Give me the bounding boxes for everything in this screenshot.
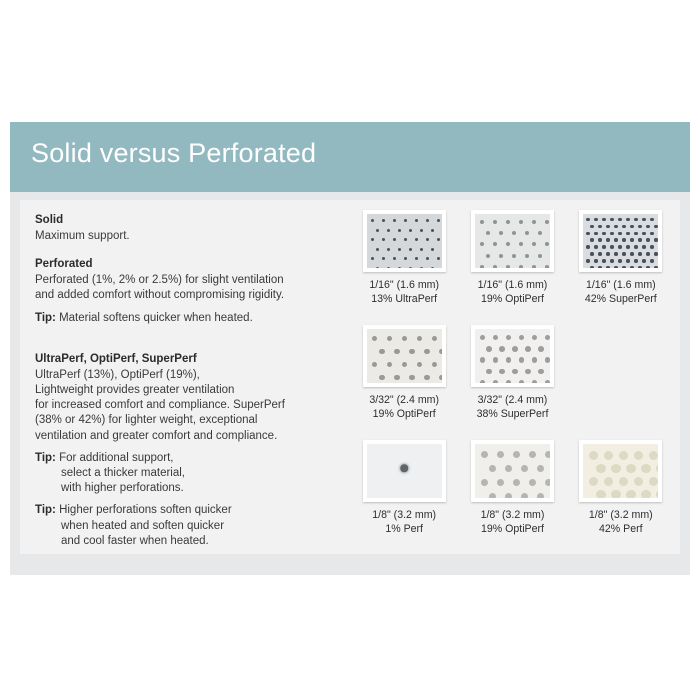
spacer (35, 304, 335, 311)
sample-size-label: 1/8" (3.2 mm) (589, 508, 653, 522)
text-section: UltraPerf, OptiPerf, SuperPerfUltraPerf … (35, 351, 335, 549)
perforation-sample-cell[interactable]: 1/16" (1.6 mm)42% SuperPerf (567, 210, 675, 325)
tip-line: Tip: Higher perforations soften quicker (35, 503, 335, 518)
perforation-hole (400, 465, 408, 473)
sample-photo (475, 329, 550, 383)
text-section: SolidMaximum support. (35, 212, 335, 244)
text-section: PerforatedPerforated (1%, 2% or 2.5%) fo… (35, 256, 335, 339)
tip-label: Tip: (35, 312, 56, 324)
spacer (35, 326, 335, 339)
sample-caption: 1/8" (3.2 mm)1% Perf (372, 508, 436, 536)
sample-caption: 1/16" (1.6 mm)19% OptiPerf (478, 278, 548, 306)
sample-perf-label: 1% Perf (372, 522, 436, 536)
sample-photo (367, 214, 442, 268)
sample-size-label: 1/16" (1.6 mm) (369, 278, 439, 292)
card-body-panel: SolidMaximum support.PerforatedPerforate… (20, 200, 680, 554)
card-header-band: Solid versus Perforated (10, 122, 690, 192)
sample-photo-frame (579, 210, 662, 272)
sample-photo-frame (471, 325, 554, 387)
section-body-line: ventilation and greater comfort and comp… (35, 429, 335, 444)
tip-label: Tip: (35, 504, 56, 516)
section-body-line: for increased comfort and compliance. Su… (35, 398, 335, 413)
perforation-sample-grid: 1/16" (1.6 mm)13% UltraPerf1/16" (1.6 mm… (350, 210, 675, 555)
sample-photo-frame (363, 440, 446, 502)
sample-perf-label: 19% OptiPerf (481, 522, 545, 536)
description-text-column: SolidMaximum support.PerforatedPerforate… (35, 212, 335, 561)
sample-caption: 1/16" (1.6 mm)42% SuperPerf (585, 278, 657, 306)
sample-photo (583, 444, 658, 498)
perforation-sample-cell[interactable]: 3/32" (2.4 mm)38% SuperPerf (458, 325, 566, 440)
sample-photo (475, 444, 550, 498)
sample-perf-label: 42% SuperPerf (585, 292, 657, 306)
sample-row: 1/16" (1.6 mm)13% UltraPerf1/16" (1.6 mm… (350, 210, 675, 325)
sample-perf-label: 38% SuperPerf (477, 407, 549, 421)
section-body-line: UltraPerf (13%), OptiPerf (19%), (35, 368, 335, 383)
tip-line: when heated and soften quicker (35, 519, 335, 534)
sample-size-label: 1/8" (3.2 mm) (481, 508, 545, 522)
sample-row: 1/8" (3.2 mm)1% Perf1/8" (3.2 mm)19% Opt… (350, 440, 675, 555)
sample-caption: 3/32" (2.4 mm)19% OptiPerf (369, 393, 439, 421)
sample-photo (367, 444, 442, 498)
sample-caption: 1/16" (1.6 mm)13% UltraPerf (369, 278, 439, 306)
perforation-sample-cell[interactable]: 1/8" (3.2 mm)1% Perf (350, 440, 458, 555)
section-body-line: Lightweight provides greater ventilation (35, 383, 335, 398)
tip-line: select a thicker material, (35, 466, 335, 481)
perforation-sample-cell[interactable]: 1/16" (1.6 mm)13% UltraPerf (350, 210, 458, 325)
tip-text: Higher perforations soften quicker (56, 504, 232, 516)
section-heading: Perforated (35, 256, 335, 272)
tip-text: Material softens quicker when heated. (56, 312, 253, 324)
sample-perf-label: 42% Perf (589, 522, 653, 536)
sample-size-label: 1/8" (3.2 mm) (372, 508, 436, 522)
section-heading: Solid (35, 212, 335, 228)
spacer (35, 444, 335, 451)
solid-versus-perforated-card: Solid versus Perforated SolidMaximum sup… (10, 122, 690, 575)
sample-perf-label: 13% UltraPerf (369, 292, 439, 306)
section-body-line: (38% or 42%) for lighter weight, excepti… (35, 413, 335, 428)
section-body-line: Maximum support. (35, 229, 335, 244)
page-title: Solid versus Perforated (31, 138, 316, 169)
perforation-sample-cell[interactable]: 1/16" (1.6 mm)19% OptiPerf (458, 210, 566, 325)
sample-caption: 1/8" (3.2 mm)19% OptiPerf (481, 508, 545, 536)
perforation-sample-cell[interactable]: 1/8" (3.2 mm)42% Perf (567, 440, 675, 555)
perforation-sample-cell[interactable]: 3/32" (2.4 mm)19% OptiPerf (350, 325, 458, 440)
section-body-line: Perforated (1%, 2% or 2.5%) for slight v… (35, 273, 335, 288)
sample-photo-frame (363, 325, 446, 387)
sample-size-label: 3/32" (2.4 mm) (369, 393, 439, 407)
sample-photo (583, 214, 658, 268)
sample-photo-frame (363, 210, 446, 272)
sample-row: 3/32" (2.4 mm)19% OptiPerf3/32" (2.4 mm)… (350, 325, 675, 440)
sample-perf-label: 19% OptiPerf (369, 407, 439, 421)
sample-size-label: 1/16" (1.6 mm) (585, 278, 657, 292)
tip-line: Tip: Material softens quicker when heate… (35, 311, 335, 326)
sample-photo (475, 214, 550, 268)
tip-text: For additional support, (56, 452, 174, 464)
spacer (35, 496, 335, 503)
sample-photo-frame (471, 440, 554, 502)
sample-photo-frame (471, 210, 554, 272)
section-heading: UltraPerf, OptiPerf, SuperPerf (35, 351, 335, 367)
tip-line: and cool faster when heated. (35, 534, 335, 549)
section-body-line: and added comfort without compromising r… (35, 288, 335, 303)
perforation-sample-cell[interactable]: 1/8" (3.2 mm)19% OptiPerf (458, 440, 566, 555)
tip-line: Tip: For additional support, (35, 451, 335, 466)
sample-perf-label: 19% OptiPerf (478, 292, 548, 306)
tip-label: Tip: (35, 452, 56, 464)
sample-size-label: 1/16" (1.6 mm) (478, 278, 548, 292)
sample-size-label: 3/32" (2.4 mm) (477, 393, 549, 407)
sample-photo (367, 329, 442, 383)
sample-caption: 1/8" (3.2 mm)42% Perf (589, 508, 653, 536)
tip-line: with higher perforations. (35, 481, 335, 496)
sample-photo-frame (579, 440, 662, 502)
sample-caption: 3/32" (2.4 mm)38% SuperPerf (477, 393, 549, 421)
